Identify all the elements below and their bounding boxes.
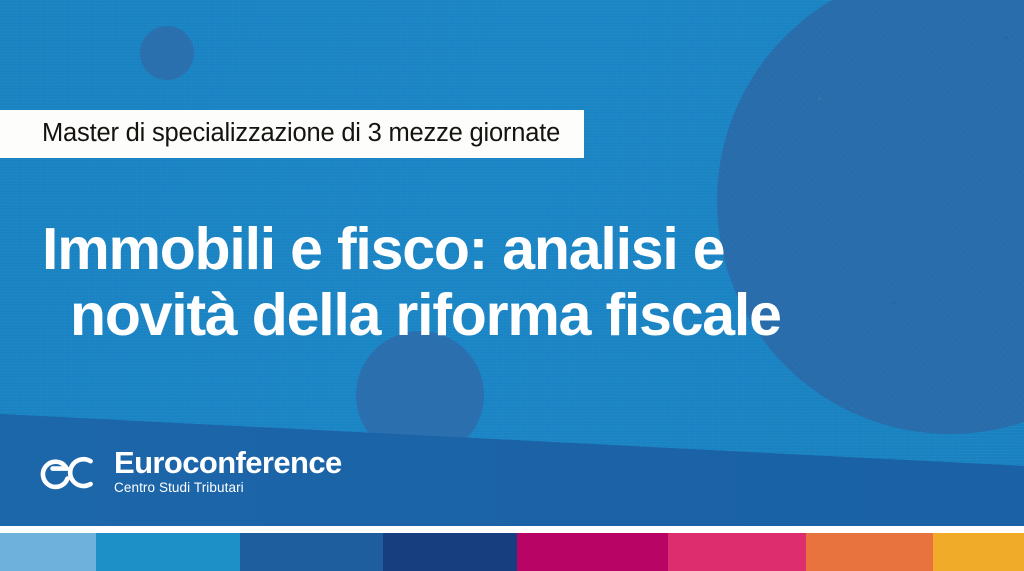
color-stripe-segment-magenta (517, 533, 668, 571)
color-stripe-segment-dark-blue (383, 533, 517, 571)
ec-monogram-icon (40, 447, 102, 495)
brand-name: Euroconference (114, 447, 342, 479)
brand-logo: Euroconference Centro Studi Tributari (40, 447, 342, 496)
event-banner: Master di specializzazione di 3 mezze gi… (0, 0, 1024, 571)
color-stripe (0, 533, 1024, 571)
stripe-separator (0, 526, 1024, 533)
small-circle-shape (140, 26, 194, 80)
page-title: Immobili e fisco: analisi e novità della… (42, 216, 872, 348)
color-stripe-segment-medium-blue (240, 533, 383, 571)
brand-logo-text: Euroconference Centro Studi Tributari (114, 447, 342, 496)
page-title-line-2: novità della riforma fiscale (42, 282, 872, 348)
color-stripe-segment-light-blue (0, 533, 96, 571)
kicker-label: Master di specializzazione di 3 mezze gi… (42, 121, 560, 147)
kicker-badge: Master di specializzazione di 3 mezze gi… (0, 110, 584, 158)
color-stripe-segment-pink (668, 533, 806, 571)
color-stripe-segment-orange (806, 533, 933, 571)
color-stripe-segment-yellow (933, 533, 1024, 571)
color-stripe-segment-blue (96, 533, 240, 571)
brand-tagline: Centro Studi Tributari (114, 480, 342, 496)
page-title-line-1: Immobili e fisco: analisi e (42, 216, 872, 282)
